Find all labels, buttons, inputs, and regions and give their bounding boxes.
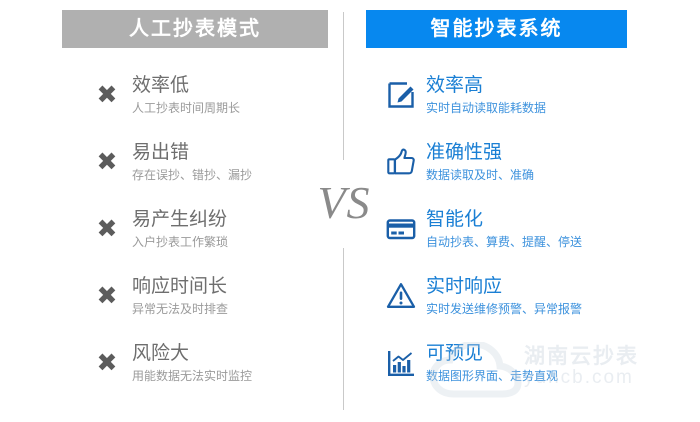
feature-title: 可预见: [426, 342, 636, 366]
feature-text: 可预见 数据图形界面、走势直观: [426, 342, 636, 386]
feature-text: 风险大 用能数据无法实时监控: [132, 342, 332, 386]
x-mark-icon: ✖: [92, 348, 122, 378]
feature-title: 易产生纠纷: [132, 208, 332, 232]
feature-title: 实时响应: [426, 275, 636, 299]
feature-subtitle: 数据读取及时、准确: [426, 165, 636, 185]
bar-chart-icon: [386, 348, 416, 378]
manual-mode-header: 人工抄表模式: [62, 10, 328, 48]
feature-title: 效率高: [426, 74, 636, 98]
feature-row: ✖ 响应时间长 异常无法及时排查: [92, 275, 332, 342]
feature-title: 准确性强: [426, 141, 636, 165]
feature-row: 准确性强 数据读取及时、准确: [386, 141, 636, 208]
feature-text: 响应时间长 异常无法及时排查: [132, 275, 332, 319]
payment-card-icon: [386, 214, 416, 244]
vertical-divider-top: [343, 12, 344, 160]
smart-system-column: 效率高 实时自动读取能耗数据 准确性强 数据读取及时、准确: [386, 74, 636, 409]
smart-system-header: 智能抄表系统: [366, 10, 627, 48]
feature-row: 效率高 实时自动读取能耗数据: [386, 74, 636, 141]
thumbs-up-icon: [386, 147, 416, 177]
warning-triangle-icon: [386, 281, 416, 311]
feature-subtitle: 实时发送维修预警、异常报警: [426, 299, 636, 319]
feature-subtitle: 异常无法及时排查: [132, 299, 332, 319]
feature-row: 智能化 自动抄表、算费、提醒、停送: [386, 208, 636, 275]
feature-text: 效率低 人工抄表时间周期长: [132, 74, 332, 118]
feature-row: ✖ 易出错 存在误抄、错抄、漏抄: [92, 141, 332, 208]
feature-title: 效率低: [132, 74, 332, 98]
feature-row: ✖ 效率低 人工抄表时间周期长: [92, 74, 332, 141]
feature-title: 风险大: [132, 342, 332, 366]
feature-subtitle: 自动抄表、算费、提醒、停送: [426, 232, 636, 252]
feature-text: 效率高 实时自动读取能耗数据: [426, 74, 636, 118]
feature-subtitle: 人工抄表时间周期长: [132, 98, 332, 118]
x-mark-icon: ✖: [92, 281, 122, 311]
x-mark-icon: ✖: [92, 214, 122, 244]
feature-title: 易出错: [132, 141, 332, 165]
x-mark-icon: ✖: [92, 80, 122, 110]
feature-text: 智能化 自动抄表、算费、提醒、停送: [426, 208, 636, 252]
feature-row: ✖ 风险大 用能数据无法实时监控: [92, 342, 332, 409]
feature-subtitle: 数据图形界面、走势直观: [426, 366, 636, 386]
feature-subtitle: 实时自动读取能耗数据: [426, 98, 636, 118]
feature-text: 易产生纠纷 入户抄表工作繁琐: [132, 208, 332, 252]
feature-text: 实时响应 实时发送维修预警、异常报警: [426, 275, 636, 319]
feature-title: 智能化: [426, 208, 636, 232]
feature-title: 响应时间长: [132, 275, 332, 299]
feature-subtitle: 存在误抄、错抄、漏抄: [132, 165, 332, 185]
vertical-divider-bottom: [343, 248, 344, 410]
feature-row: 可预见 数据图形界面、走势直观: [386, 342, 636, 409]
edit-pencil-icon: [386, 80, 416, 110]
feature-row: ✖ 易产生纠纷 入户抄表工作繁琐: [92, 208, 332, 275]
comparison-infographic: 人工抄表模式 智能抄表系统 VS ✖ 效率低 人工抄表时间周期长 ✖ 易出错 存…: [0, 0, 700, 422]
x-mark-icon: ✖: [92, 147, 122, 177]
manual-mode-column: ✖ 效率低 人工抄表时间周期长 ✖ 易出错 存在误抄、错抄、漏抄 ✖ 易产生纠纷…: [92, 74, 332, 409]
feature-subtitle: 入户抄表工作繁琐: [132, 232, 332, 252]
feature-subtitle: 用能数据无法实时监控: [132, 366, 332, 386]
feature-row: 实时响应 实时发送维修预警、异常报警: [386, 275, 636, 342]
feature-text: 准确性强 数据读取及时、准确: [426, 141, 636, 185]
feature-text: 易出错 存在误抄、错抄、漏抄: [132, 141, 332, 185]
